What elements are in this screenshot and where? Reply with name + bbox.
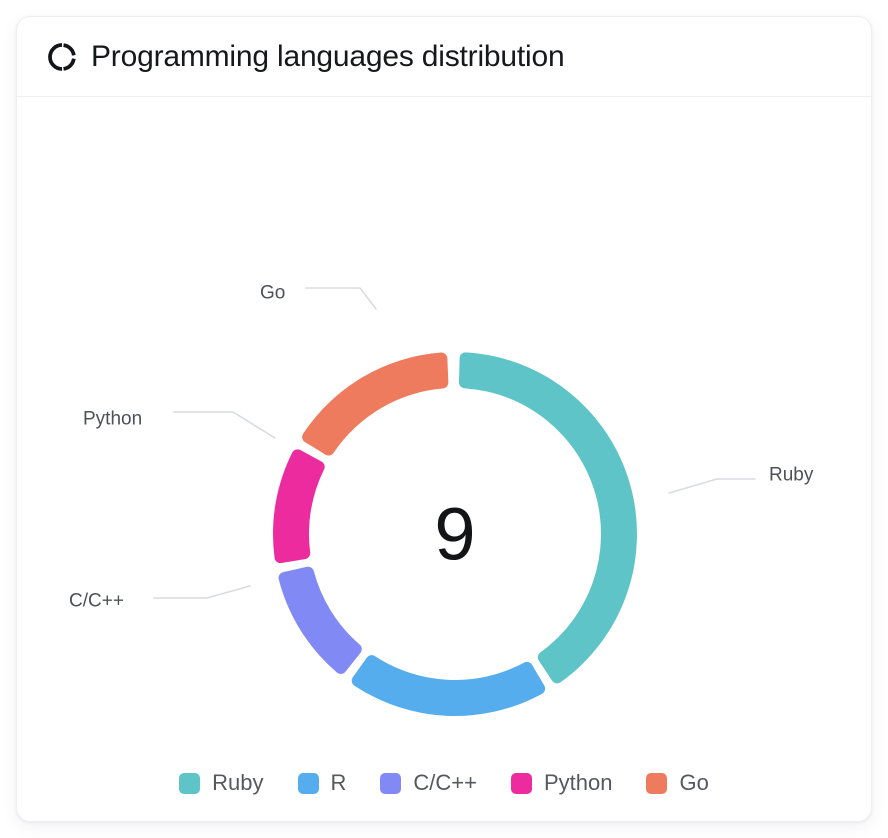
slice-leader-line: [174, 412, 275, 438]
donut-chart-svg: RubyRC/C++PythonGo 9: [17, 97, 871, 742]
chart-card: Programming languages distribution RubyR…: [16, 16, 872, 822]
page-title: Programming languages distribution: [91, 40, 564, 73]
donut-slice[interactable]: [459, 352, 637, 683]
legend-item-r[interactable]: R: [298, 770, 347, 796]
legend-swatch-icon: [646, 773, 667, 794]
donut-slice[interactable]: [302, 353, 448, 456]
slice-label: Ruby: [769, 465, 814, 486]
donut-slice[interactable]: [352, 655, 545, 716]
legend-swatch-icon: [298, 773, 319, 794]
legend-label: R: [331, 770, 347, 796]
legend-item-c-c[interactable]: C/C++: [380, 770, 477, 796]
page-root: Programming languages distribution RubyR…: [0, 0, 888, 838]
donut-slice[interactable]: [279, 567, 362, 674]
legend-label: Python: [544, 770, 613, 796]
card-body: RubyRC/C++PythonGo 9 RubyRC/C++PythonGo: [17, 97, 871, 822]
card-header: Programming languages distribution: [17, 17, 871, 97]
donut-chart: RubyRC/C++PythonGo 9: [17, 97, 871, 742]
donut-chart-icon: [47, 42, 77, 72]
legend-item-python[interactable]: Python: [511, 770, 613, 796]
legend-item-go[interactable]: Go: [646, 770, 708, 796]
slice-label: Go: [260, 283, 285, 304]
slice-label: C/C++: [69, 591, 124, 612]
slice-leader-line: [306, 288, 376, 309]
donut-slice[interactable]: [273, 449, 325, 563]
legend-swatch-icon: [380, 773, 401, 794]
slice-label: Python: [83, 409, 142, 430]
legend-label: Ruby: [212, 770, 263, 796]
legend-label: Go: [679, 770, 708, 796]
legend-swatch-icon: [511, 773, 532, 794]
legend-label: C/C++: [413, 770, 477, 796]
slice-leader-line: [669, 479, 755, 493]
legend-item-ruby[interactable]: Ruby: [179, 770, 263, 796]
slice-leader-line: [154, 586, 250, 598]
chart-legend: RubyRC/C++PythonGo: [17, 770, 871, 796]
donut-center-value: 9: [434, 493, 475, 576]
legend-swatch-icon: [179, 773, 200, 794]
